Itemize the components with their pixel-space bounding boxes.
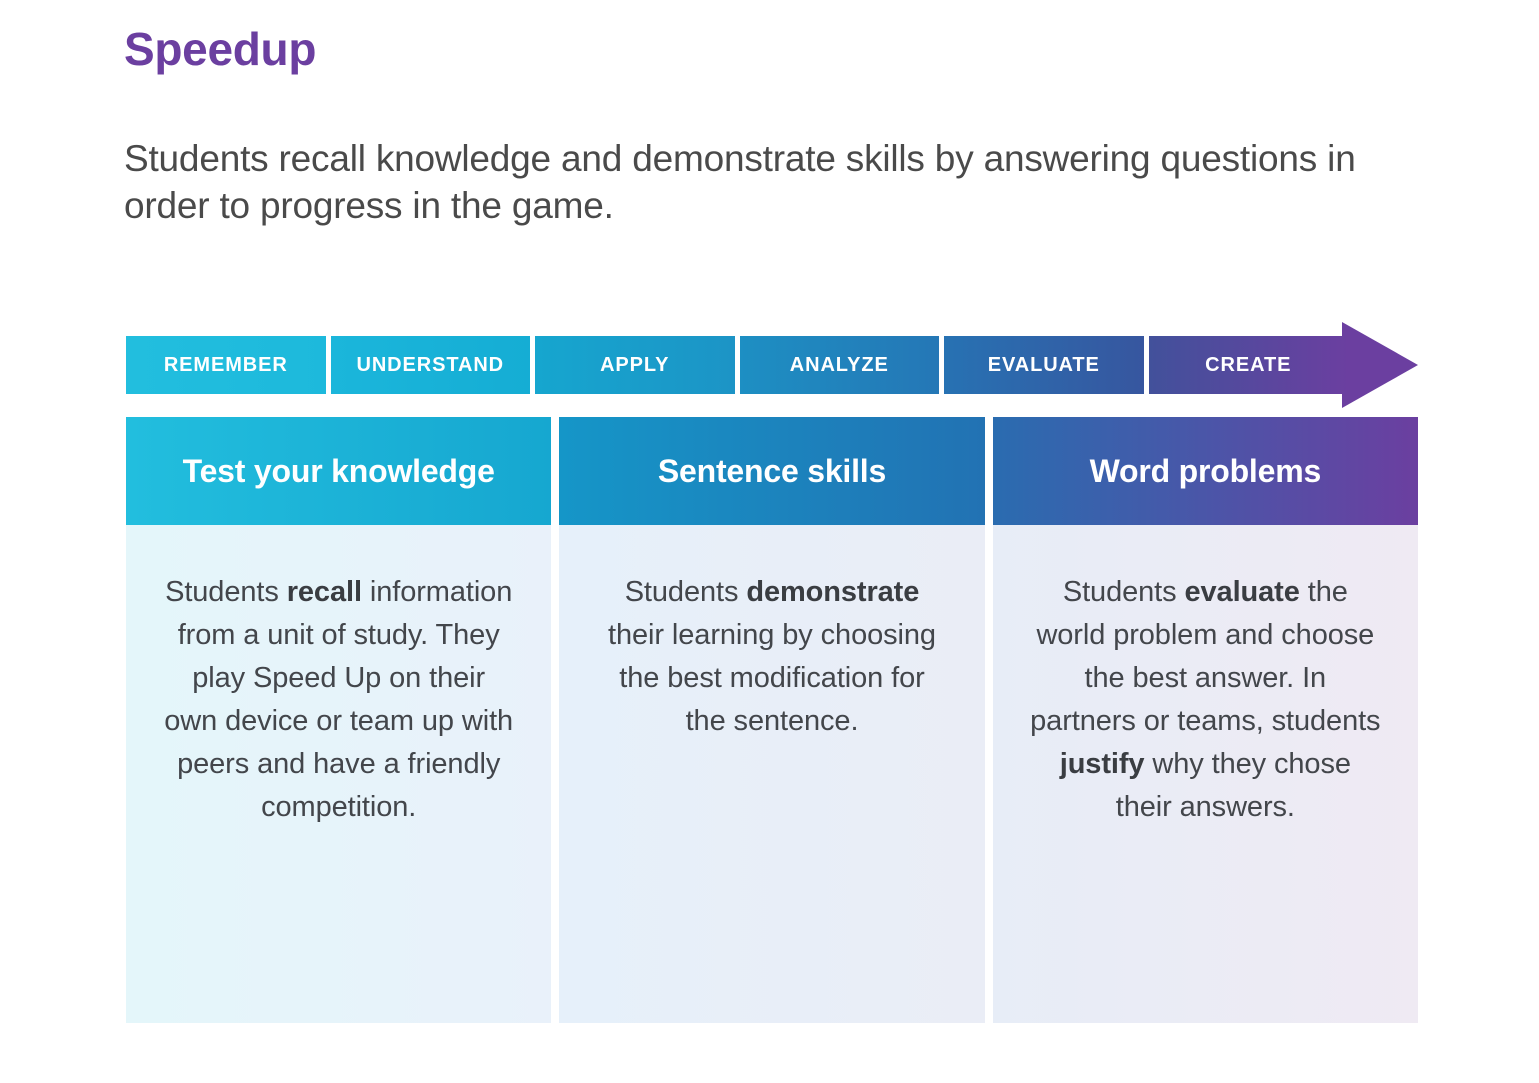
taxonomy-level-create[interactable]: CREATE xyxy=(1149,336,1349,394)
taxonomy-level-label: CREATE xyxy=(1205,354,1291,377)
card-title: Word problems xyxy=(993,417,1418,525)
card-title: Sentence skills xyxy=(559,417,984,525)
taxonomy-level-apply[interactable]: APPLY xyxy=(535,336,735,394)
taxonomy-bar: REMEMBER UNDERSTAND APPLY ANALYZE EVALUA… xyxy=(126,336,1418,408)
activity-card-word-problems[interactable]: Word problems Students evaluate the worl… xyxy=(993,417,1418,1023)
arrow-right-icon xyxy=(1342,322,1418,408)
page-title: Speedup xyxy=(124,24,316,75)
taxonomy-level-evaluate[interactable]: EVALUATE xyxy=(944,336,1144,394)
card-title: Test your knowledge xyxy=(126,417,551,525)
taxonomy-level-label: APPLY xyxy=(600,354,669,377)
infographic-page: Speedup Students recall knowledge and de… xyxy=(0,0,1539,1083)
taxonomy-segments: REMEMBER UNDERSTAND APPLY ANALYZE EVALUA… xyxy=(126,336,1348,394)
page-subtitle: Students recall knowledge and demonstrat… xyxy=(124,136,1374,229)
taxonomy-level-label: REMEMBER xyxy=(164,354,288,377)
taxonomy-level-label: EVALUATE xyxy=(988,354,1100,377)
activity-cards: Test your knowledge Students recall info… xyxy=(126,417,1418,1023)
card-description: Students recall information from a unit … xyxy=(126,525,551,1023)
card-description: Students demonstrate their learning by c… xyxy=(559,525,984,1023)
taxonomy-level-analyze[interactable]: ANALYZE xyxy=(740,336,940,394)
taxonomy-level-understand[interactable]: UNDERSTAND xyxy=(331,336,531,394)
activity-card-test-your-knowledge[interactable]: Test your knowledge Students recall info… xyxy=(126,417,551,1023)
card-description: Students evaluate the world problem and … xyxy=(993,525,1418,1023)
taxonomy-level-remember[interactable]: REMEMBER xyxy=(126,336,326,394)
activity-card-sentence-skills[interactable]: Sentence skills Students demonstrate the… xyxy=(559,417,984,1023)
taxonomy-level-label: ANALYZE xyxy=(790,354,889,377)
taxonomy-level-label: UNDERSTAND xyxy=(356,354,504,377)
